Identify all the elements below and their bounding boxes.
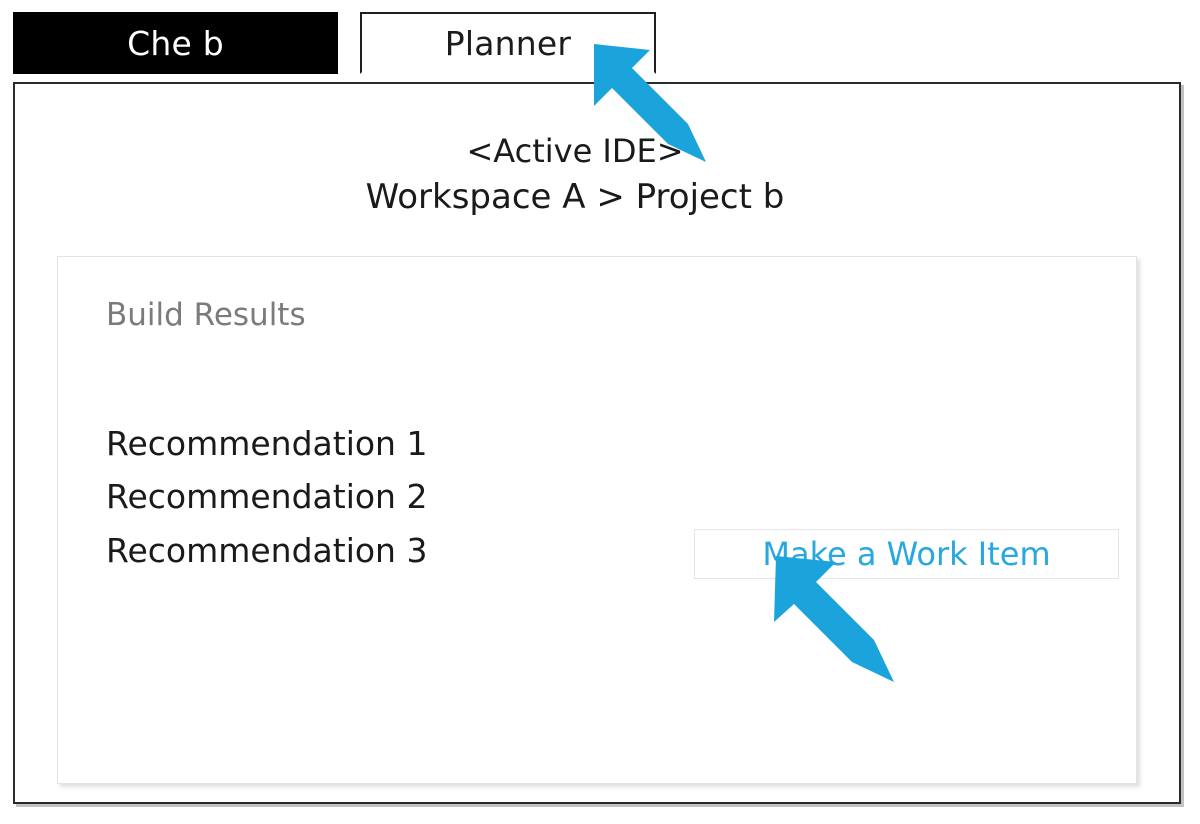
make-work-item-button[interactable]: Make a Work Item bbox=[694, 529, 1119, 579]
breadcrumb: Workspace A > Project b bbox=[15, 177, 1135, 218]
tab-planner-label: Planner bbox=[445, 24, 571, 63]
tab-planner[interactable]: Planner bbox=[360, 12, 656, 74]
list-item[interactable]: Recommendation 3 bbox=[106, 524, 427, 577]
tab-che-b-label: Che b bbox=[127, 24, 224, 63]
recommendation-list: Recommendation 1 Recommendation 2 Recomm… bbox=[106, 417, 427, 577]
panel-title: Build Results bbox=[106, 297, 306, 333]
tab-che-b[interactable]: Che b bbox=[13, 12, 338, 74]
ide-window-body: <Active IDE> Workspace A > Project b Bui… bbox=[13, 82, 1181, 804]
active-ide-label: <Active IDE> bbox=[15, 132, 1135, 171]
list-item[interactable]: Recommendation 2 bbox=[106, 470, 427, 523]
header-block: <Active IDE> Workspace A > Project b bbox=[15, 132, 1135, 219]
make-work-item-button-label: Make a Work Item bbox=[762, 535, 1050, 573]
list-item[interactable]: Recommendation 1 bbox=[106, 417, 427, 470]
tab-strip: Che b Planner bbox=[0, 0, 1200, 84]
build-results-panel: Build Results Recommendation 1 Recommend… bbox=[57, 256, 1137, 784]
